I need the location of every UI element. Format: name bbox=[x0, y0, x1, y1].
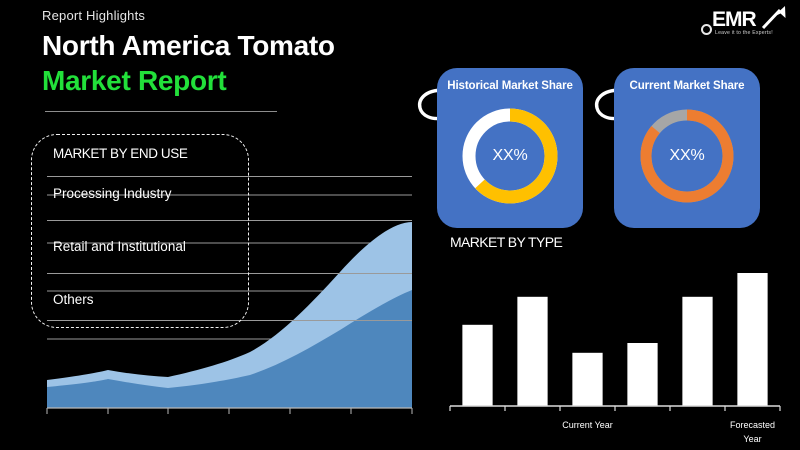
area-chart-x-ticks bbox=[47, 408, 412, 414]
enduse-item-others[interactable]: Others bbox=[53, 292, 94, 307]
emr-logo-tagline: Leave it to the Experts! bbox=[715, 30, 773, 36]
growth-arrow-icon bbox=[760, 4, 788, 30]
title-underline-divider bbox=[45, 111, 277, 112]
page-title-line1: North America Tomato bbox=[42, 31, 335, 62]
market-by-type-bar-chart: Current YearForecastedYear bbox=[440, 258, 790, 448]
bar-chart-bar bbox=[517, 297, 547, 406]
enduse-divider-0 bbox=[47, 176, 412, 177]
circle-outline-icon bbox=[701, 24, 712, 35]
enduse-item-processing-industry[interactable]: Processing Industry bbox=[53, 186, 172, 201]
bar-chart-bar bbox=[627, 343, 657, 406]
historical-card-title: Historical Market Share bbox=[437, 80, 583, 92]
bar-chart-bar bbox=[737, 273, 767, 406]
enduse-item-retail-and-institutional[interactable]: Retail and Institutional bbox=[53, 239, 186, 254]
current-donut-chart: XX% bbox=[635, 104, 739, 208]
bar-chart-tick-label: Year bbox=[743, 434, 761, 444]
bar-chart-tick-labels: Current YearForecastedYear bbox=[562, 420, 775, 444]
bar-chart-bar bbox=[572, 353, 602, 406]
enduse-divider-2 bbox=[47, 273, 412, 274]
bar-chart-x-ticks bbox=[450, 406, 780, 411]
bar-chart-bar bbox=[462, 325, 492, 406]
emr-logo: EMR Leave it to the Experts! bbox=[698, 4, 790, 44]
historical-market-share-card[interactable]: Historical Market Share XX% bbox=[437, 68, 583, 228]
current-card-title: Current Market Share bbox=[614, 80, 760, 92]
emr-logo-wordmark: EMR bbox=[712, 9, 756, 30]
historical-donut-chart: XX% bbox=[458, 104, 562, 208]
bar-chart-bars bbox=[462, 273, 767, 406]
infographic-slide: Report Highlights North America Tomato M… bbox=[0, 0, 800, 450]
bar-chart-tick-label: Current Year bbox=[562, 420, 613, 430]
current-market-share-card[interactable]: Current Market Share XX% bbox=[614, 68, 760, 228]
page-title-line2: Market Report bbox=[42, 66, 226, 97]
enduse-heading: MARKET BY END USE bbox=[53, 146, 188, 161]
historical-donut-value: XX% bbox=[458, 147, 562, 165]
kicker-text: Report Highlights bbox=[42, 8, 145, 23]
market-by-type-heading: MARKET BY TYPE bbox=[450, 234, 562, 250]
enduse-divider-1 bbox=[47, 220, 412, 221]
enduse-divider-3 bbox=[47, 320, 412, 321]
current-donut-value: XX% bbox=[635, 147, 739, 165]
bar-chart-bar bbox=[682, 297, 712, 406]
bar-chart-tick-label: Forecasted bbox=[730, 420, 775, 430]
